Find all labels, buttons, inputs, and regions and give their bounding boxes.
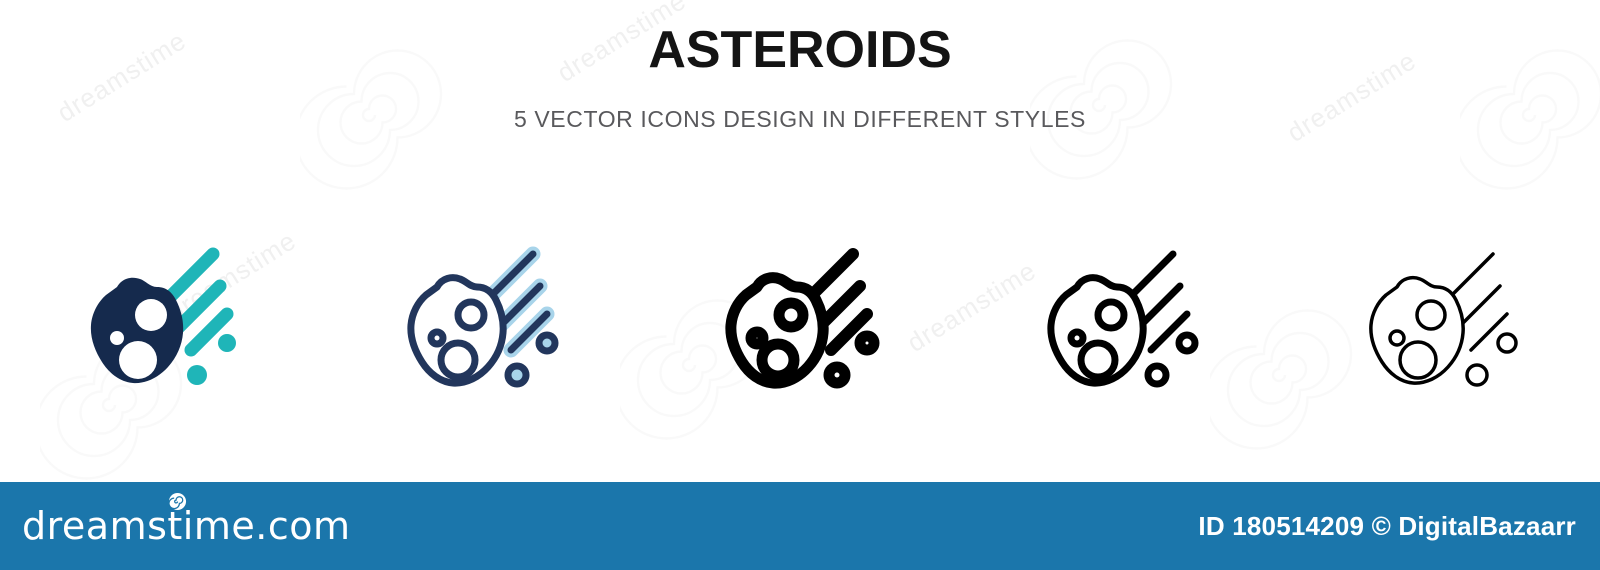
icon-cell-regular[interactable]	[960, 212, 1280, 422]
page-title: ASTEROIDS	[0, 0, 1600, 76]
image-credit: ID 180514209 © DigitalBazaarr	[1198, 511, 1576, 542]
footer-bar: dreamstime.com ID 180514209 © DigitalBaz…	[0, 482, 1600, 570]
icon-variants-row	[0, 212, 1600, 422]
stock-image-canvas: dreamstime dreamstime dreamstime dreamst…	[0, 0, 1600, 570]
asteroid-icon-filled[interactable]	[60, 217, 260, 417]
page-subtitle: 5 VECTOR ICONS DESIGN IN DIFFERENT STYLE…	[0, 76, 1600, 131]
dreamstime-logo[interactable]: dreamstime.com	[22, 507, 350, 545]
asteroid-icon-bold[interactable]	[700, 217, 900, 417]
icon-cell-duotone[interactable]	[320, 212, 640, 422]
header: ASTEROIDS 5 VECTOR ICONS DESIGN IN DIFFE…	[0, 0, 1600, 131]
asteroid-icon-duotone[interactable]	[380, 217, 580, 417]
icon-cell-filled[interactable]	[0, 212, 320, 422]
dreamstime-spiral-icon	[168, 492, 187, 511]
icon-cell-bold[interactable]	[640, 212, 960, 422]
dreamstime-wordmark: dreamstime.com	[22, 507, 350, 545]
asteroid-icon-regular[interactable]	[1020, 217, 1220, 417]
asteroid-icon-thin[interactable]	[1340, 217, 1540, 417]
icon-cell-thin[interactable]	[1280, 212, 1600, 422]
